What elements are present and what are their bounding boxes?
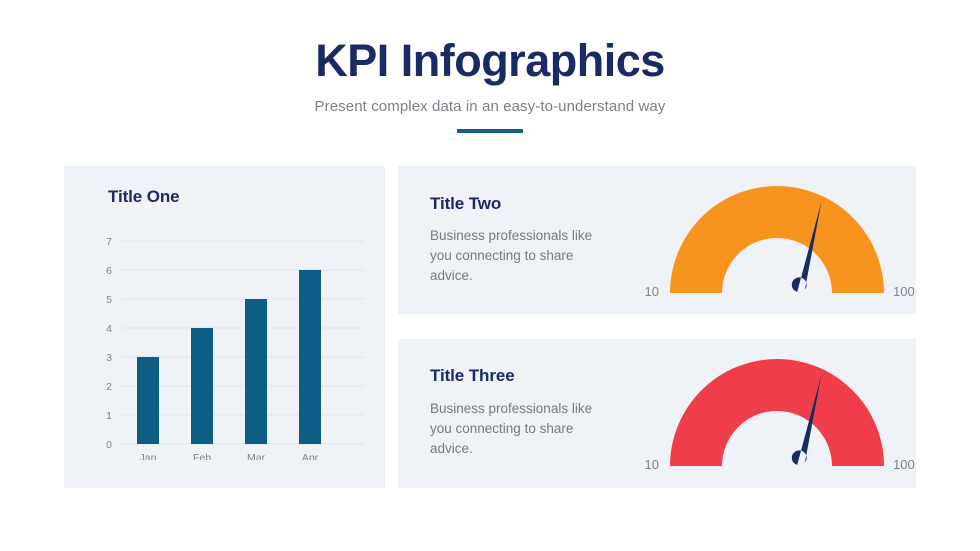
slide-header: KPI Infographics Present complex data in… [0, 36, 980, 133]
y-tick-2: 2 [106, 381, 112, 393]
card-title-two[interactable]: Title Two Business professionals like yo… [398, 166, 916, 314]
card-one-title: Title One [108, 187, 180, 207]
card-three-body: Business professionals like you connecti… [430, 399, 600, 459]
y-tick-5: 5 [106, 294, 112, 306]
gauge-three-min-label: 10 [645, 457, 659, 472]
page-subtitle: Present complex data in an easy-to-under… [0, 98, 980, 115]
bar-chart: 7 6 5 4 3 2 1 0 Jan Feb [94, 230, 374, 460]
bar-jan[interactable] [137, 357, 159, 444]
x-tick-apr: Apr [302, 452, 319, 460]
y-tick-4: 4 [106, 323, 112, 335]
y-tick-0: 0 [106, 439, 112, 451]
card-three-title: Title Three [430, 366, 515, 386]
x-tick-jan: Jan [140, 452, 157, 460]
page-title: KPI Infographics [0, 36, 980, 86]
gauge-two-arc [670, 186, 884, 293]
title-underline-accent [457, 129, 523, 133]
card-two-body: Business professionals like you connecti… [430, 226, 600, 286]
gauge-three-svg: 10 100 [641, 356, 909, 476]
x-tick-mar: Mar [247, 452, 266, 460]
card-title-three[interactable]: Title Three Business professionals like … [398, 339, 916, 488]
x-tick-feb: Feb [193, 452, 211, 460]
bar-mar[interactable] [245, 299, 267, 444]
y-tick-3: 3 [106, 352, 112, 364]
card-title-one[interactable]: Title One 7 6 5 4 3 [64, 166, 385, 488]
chart-y-tick-labels: 7 6 5 4 3 2 1 0 [106, 236, 112, 451]
gauge-three-max-label: 100 [893, 457, 915, 472]
bar-apr[interactable] [299, 270, 321, 444]
gauge-two: 10 100 [641, 183, 909, 303]
gauge-two-svg: 10 100 [641, 183, 909, 303]
gauge-two-min-label: 10 [645, 284, 659, 299]
y-tick-6: 6 [106, 265, 112, 277]
gauge-three: 10 100 [641, 356, 909, 476]
card-two-title: Title Two [430, 194, 501, 214]
bar-chart-svg: 7 6 5 4 3 2 1 0 Jan Feb [94, 230, 374, 460]
chart-x-tick-labels: Jan Feb Mar Apr [140, 452, 319, 460]
gauge-two-max-label: 100 [893, 284, 915, 299]
slide-canvas: KPI Infographics Present complex data in… [0, 0, 980, 551]
y-tick-1: 1 [106, 410, 112, 422]
gauge-three-arc [670, 359, 884, 466]
y-tick-7: 7 [106, 236, 112, 248]
bar-feb[interactable] [191, 328, 213, 444]
